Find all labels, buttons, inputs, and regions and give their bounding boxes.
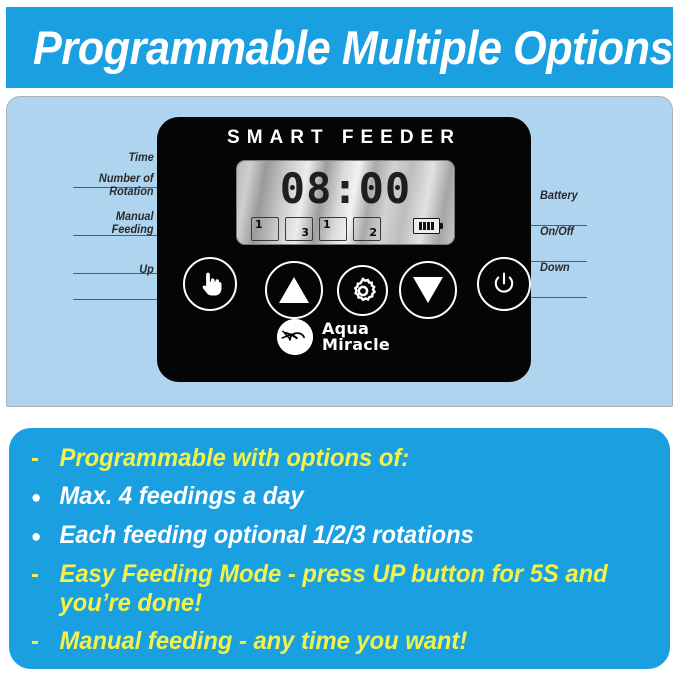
feature-text: Easy Feeding Mode - press UP button for …: [60, 560, 618, 618]
rotation-box-4: 2: [353, 217, 381, 241]
rotation-box-2: 3: [285, 217, 313, 241]
features-panel: - Programmable with options of: ● Max. 4…: [9, 428, 670, 669]
power-button[interactable]: [477, 257, 531, 311]
feature-text: Programmable with options of:: [60, 444, 618, 473]
feature-item: - Easy Feeding Mode - press UP button fo…: [31, 560, 617, 618]
callout-label-on-off: On/Off: [540, 226, 654, 239]
rotation-box-3: 1: [319, 217, 347, 241]
callout-label-time: Time: [32, 152, 154, 165]
rotation-indicator-row: 1 3 1 2: [251, 217, 381, 241]
triangle-down-icon: [413, 277, 443, 303]
lcd-time-value: 08:00: [237, 166, 454, 212]
feature-marker: -: [31, 627, 60, 656]
callout-label-manual-feeding: Manual Feeding: [22, 211, 153, 237]
device-diagram-panel: Time Number of Rotation Manual Feeding U…: [6, 96, 673, 407]
device-brand-line: SMART FEEDER: [157, 127, 531, 149]
battery-icon: [413, 218, 440, 234]
feature-text: Manual feeding - any time you want!: [60, 627, 618, 656]
feature-marker: ●: [31, 521, 60, 551]
callout-label-up: Up: [32, 264, 154, 277]
feature-item: ● Each feeding optional 1/2/3 rotations: [31, 521, 617, 551]
feature-marker: -: [31, 560, 60, 589]
brand-logo: Aqua Miracle: [277, 319, 390, 355]
brand-line-2: Miracle: [322, 337, 390, 353]
feature-text: Each feeding optional 1/2/3 rotations: [60, 521, 618, 550]
lcd-screen: 08:00 1 3 1 2: [236, 160, 455, 245]
feature-item: - Programmable with options of:: [31, 444, 617, 473]
rotation-box-1-digit: 1: [255, 219, 263, 230]
callout-label-battery: Battery: [540, 190, 654, 203]
up-button[interactable]: [265, 261, 323, 319]
fish-in-circle-icon: [277, 319, 313, 355]
callout-label-number-of-rotation: Number of Rotation: [22, 173, 153, 199]
triangle-up-icon: [279, 277, 309, 303]
page-title: Programmable Multiple Options: [33, 24, 673, 71]
manual-feeding-button[interactable]: [183, 257, 237, 311]
hand-pointing-icon: [198, 271, 222, 297]
feature-text: Max. 4 feedings a day: [60, 482, 618, 511]
settings-button[interactable]: [337, 265, 388, 316]
smart-feeder-device: SMART FEEDER 08:00 1 3 1 2: [157, 117, 531, 382]
feature-marker: ●: [31, 482, 60, 512]
callout-label-down: Down: [540, 262, 654, 275]
gear-icon: [348, 276, 378, 306]
down-button[interactable]: [399, 261, 457, 319]
header-banner: Programmable Multiple Options: [6, 7, 673, 88]
rotation-box-2-digit: 3: [301, 227, 309, 238]
power-icon: [491, 271, 517, 297]
brand-text: Aqua Miracle: [322, 321, 390, 353]
feature-item: - Manual feeding - any time you want!: [31, 627, 617, 656]
rotation-box-1: 1: [251, 217, 279, 241]
feature-item: ● Max. 4 feedings a day: [31, 482, 617, 512]
rotation-box-3-digit: 1: [323, 219, 331, 230]
feature-marker: -: [31, 444, 60, 473]
rotation-box-4-digit: 2: [369, 227, 377, 238]
